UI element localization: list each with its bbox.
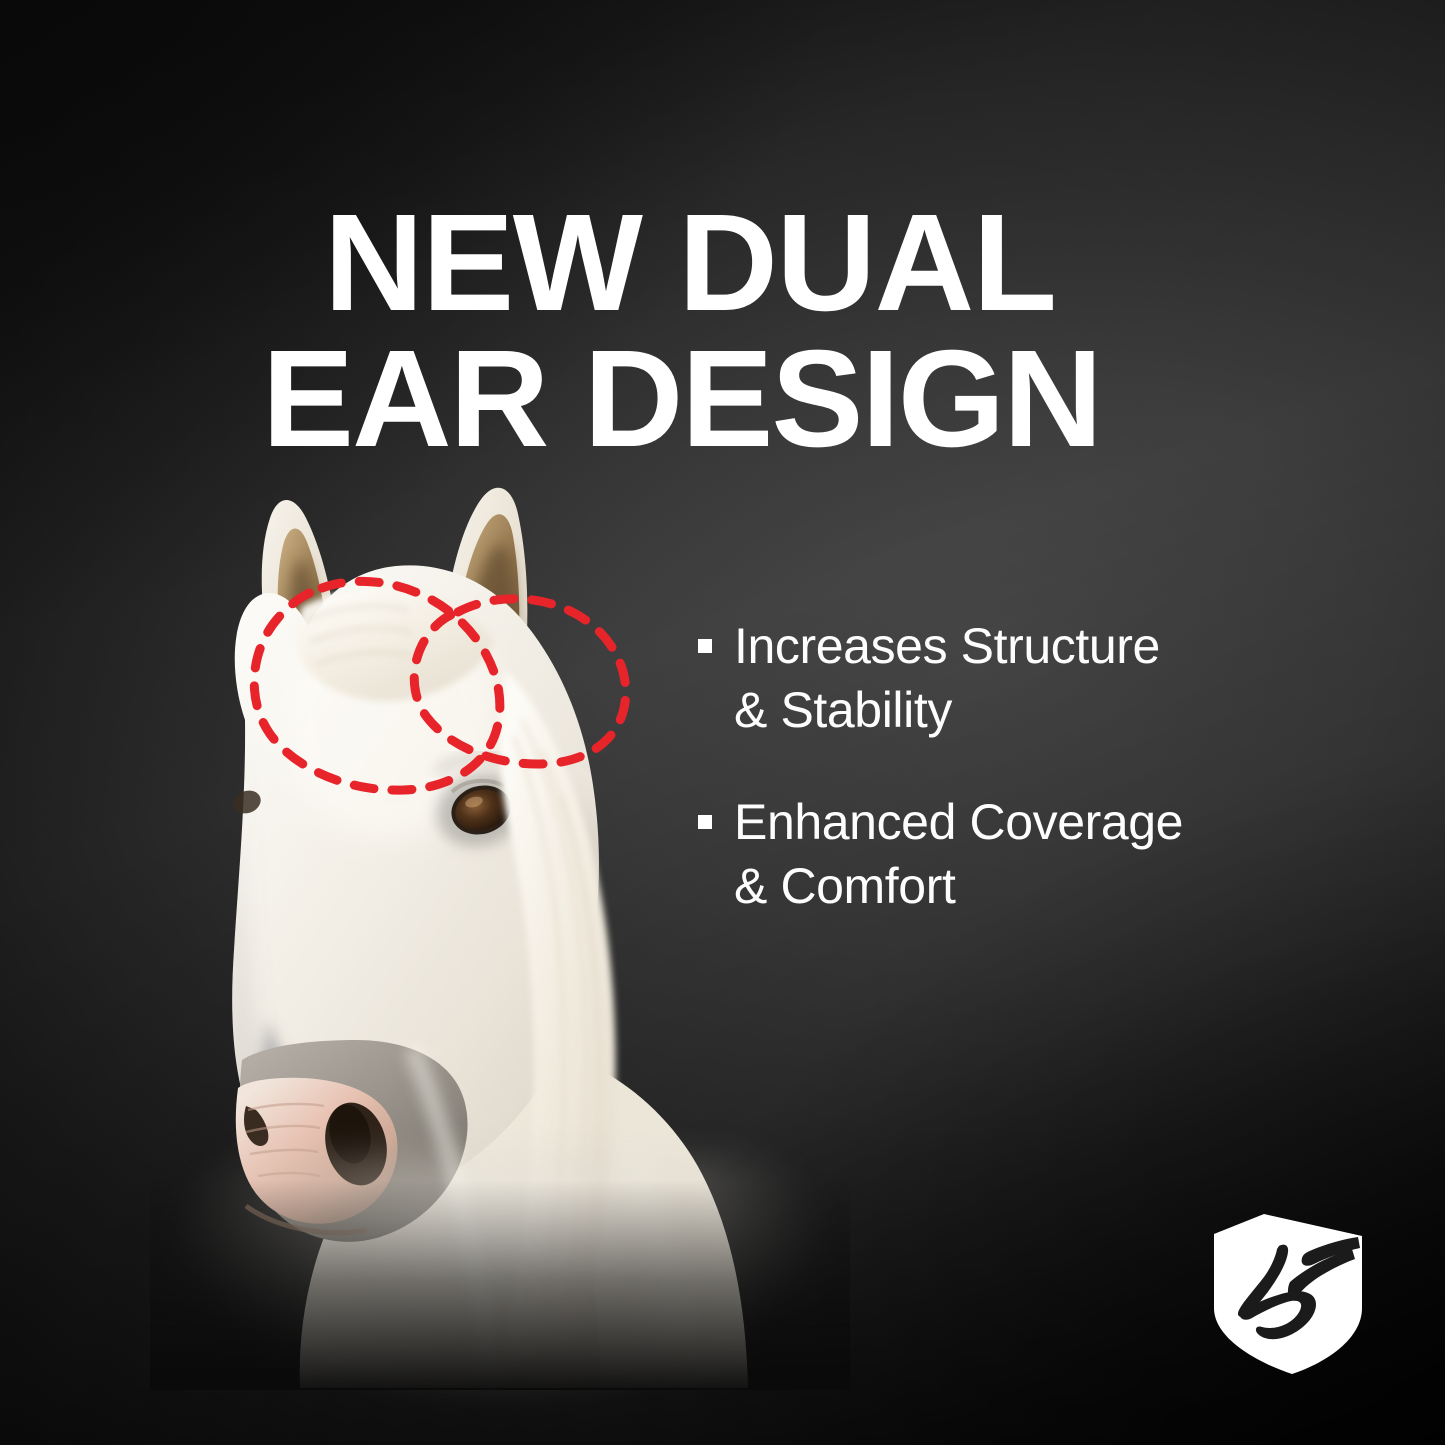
feature-line-1: Enhanced Coverage	[734, 794, 1183, 850]
feature-text: Increases Structure & Stability	[734, 614, 1160, 742]
feature-line-1: Increases Structure	[734, 618, 1160, 674]
square-bullet-icon	[698, 815, 712, 829]
feature-line-2: & Comfort	[734, 858, 955, 914]
feature-list: Increases Structure & Stability Enhanced…	[698, 614, 1358, 918]
shield-k-logo-icon	[1206, 1212, 1371, 1377]
feature-line-2: & Stability	[734, 682, 952, 738]
feature-text: Enhanced Coverage & Comfort	[734, 790, 1183, 918]
brand-logo	[1206, 1212, 1371, 1377]
list-item: Enhanced Coverage & Comfort	[698, 790, 1358, 918]
promo-image-canvas: NEW DUAL EAR DESIGN	[0, 0, 1445, 1445]
square-bullet-icon	[698, 639, 712, 653]
list-item: Increases Structure & Stability	[698, 614, 1358, 742]
headline-line-1: NEW DUAL	[262, 196, 1212, 332]
